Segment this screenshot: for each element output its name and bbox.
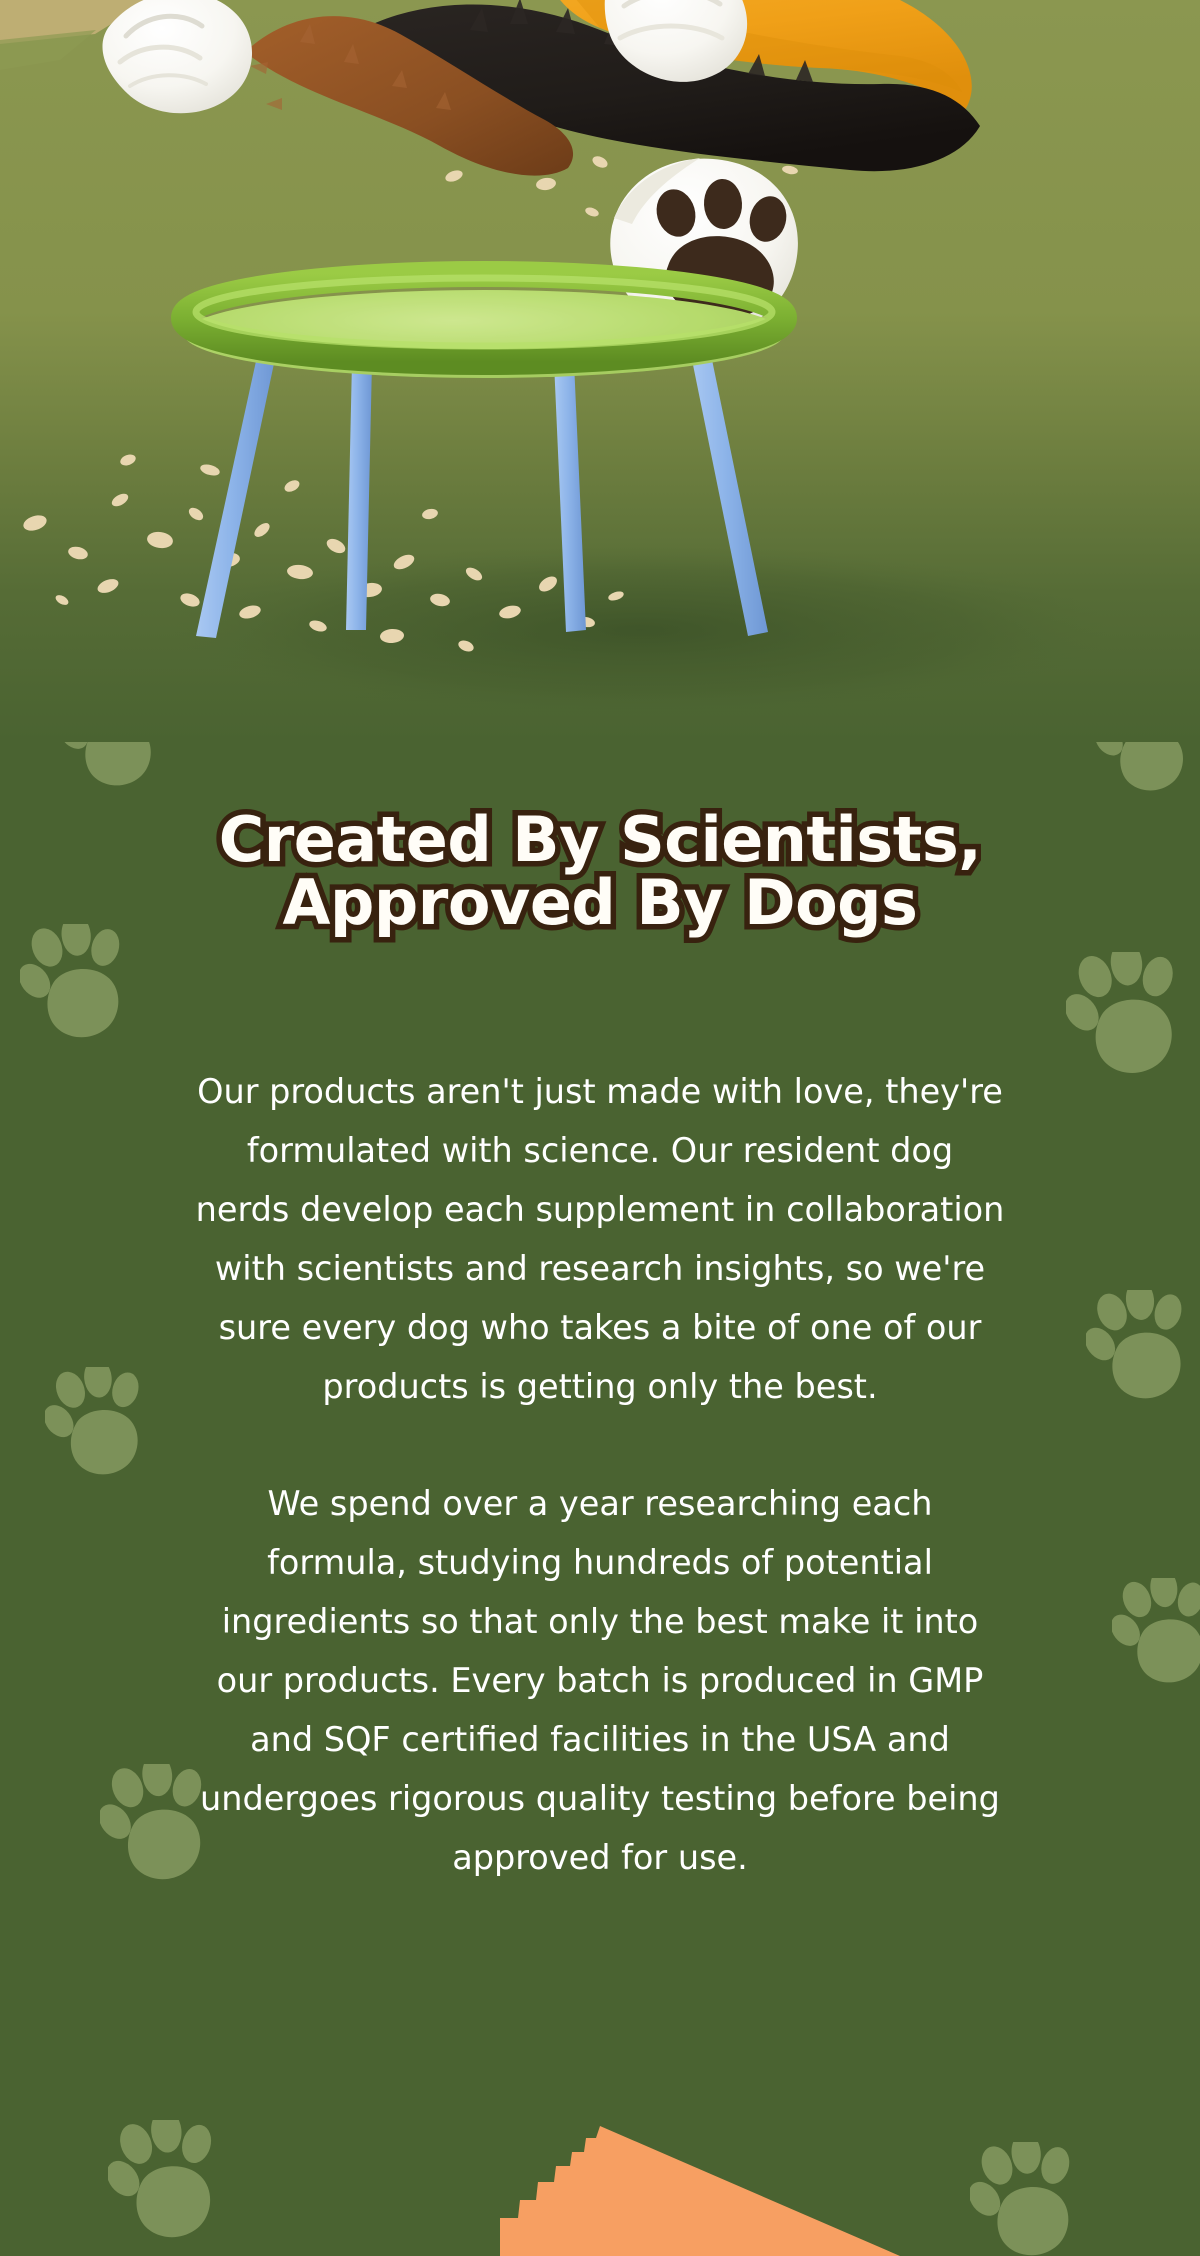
paw-print-icon [60,742,156,798]
paw-print-icon [1086,1290,1186,1410]
paw-print-icon [1112,1578,1200,1694]
paw-print-icon [20,924,124,1050]
orange-wedge-shape [0,2126,1200,2256]
headline-line-2: Approved By Dogs [0,871,1200,934]
promo-page: Created By Scientists, Approved By Dogs … [0,0,1200,2256]
paw-print-icon [1096,742,1188,802]
hero-illustration [0,0,1200,742]
page-title: Created By Scientists, Approved By Dogs [0,808,1200,934]
paw-print-icon [1066,952,1178,1086]
paw-print-icon [45,1367,143,1487]
paragraph-1: Our products aren't just made with love,… [195,1062,1005,1416]
headline-line-1: Created By Scientists, [0,808,1200,871]
body-copy: Our products aren't just made with love,… [195,1062,1005,1887]
paragraph-2: We spend over a year researching each fo… [195,1474,1005,1887]
dog-trampoline-scene [0,0,1200,742]
bottom-wedge [0,2126,1200,2256]
paw-print-icon [100,1764,206,1892]
content-section: Created By Scientists, Approved By Dogs … [0,742,1200,2256]
